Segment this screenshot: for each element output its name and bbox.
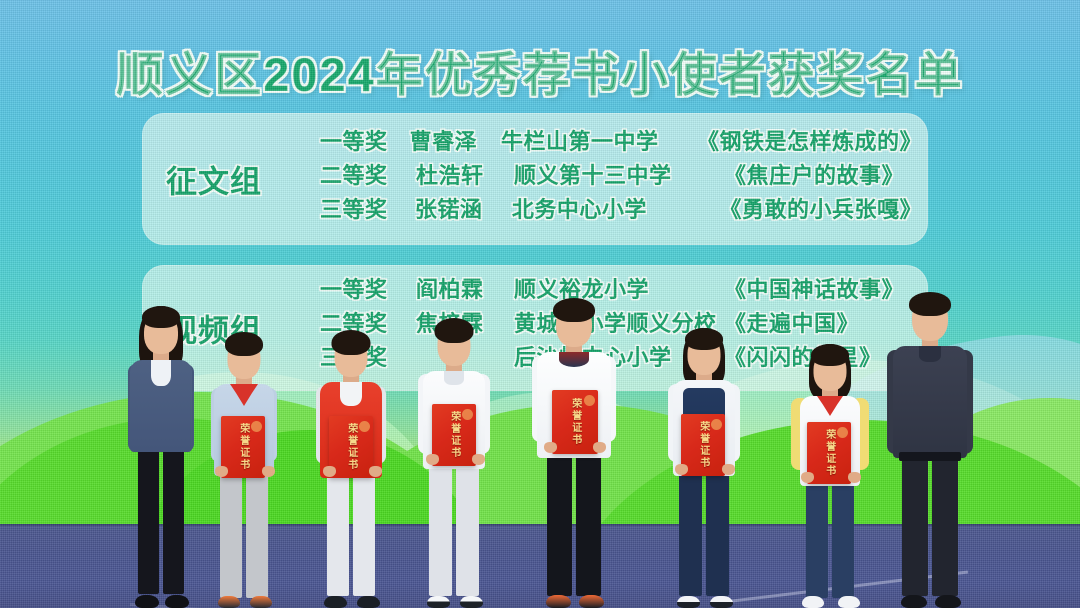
shoe <box>802 596 824 608</box>
certificate-seal <box>359 421 370 432</box>
award-prize: 二等奖 <box>320 158 416 190</box>
shoe <box>324 596 347 608</box>
hair-top <box>685 328 723 350</box>
hand <box>544 442 557 453</box>
shoe <box>935 595 961 608</box>
leg <box>220 470 242 598</box>
certificate-seal <box>462 409 473 420</box>
hair-top <box>811 344 849 366</box>
award-row: 二等奖 杜浩轩 顺义第十三中学 《焦庄户的故事》 <box>320 157 922 191</box>
hand <box>323 466 336 477</box>
leg <box>576 452 601 596</box>
hand <box>262 466 275 477</box>
hand <box>593 442 606 453</box>
belt <box>899 452 961 461</box>
hand <box>722 464 735 475</box>
hand <box>215 466 228 477</box>
screenshot-stage: 顺义区2024年优秀荐书小使者获奖名单 征文组 一等奖 曹睿泽 牛栏山第一中学 … <box>0 0 1080 608</box>
hand <box>848 472 861 483</box>
legs <box>805 480 855 598</box>
leg <box>353 472 375 596</box>
legs <box>428 463 480 596</box>
person-student-2: 荣誉证书 <box>310 316 392 608</box>
award-school: 顺义第十三中学 <box>514 158 724 190</box>
award-row-list-essay: 一等奖 曹睿泽 牛栏山第一中学 《钢铁是怎样炼成的》 二等奖 杜浩轩 顺义第十三… <box>320 123 922 237</box>
shirt-collar-striped <box>559 352 589 367</box>
hair <box>909 292 951 316</box>
page-title: 顺义区2024年优秀荐书小使者获奖名单 <box>0 36 1080 105</box>
award-book: 《勇敢的小兵张嘎》 <box>719 192 922 224</box>
certificate-label: 荣誉证书 <box>345 423 357 471</box>
certificate-seal <box>251 421 262 432</box>
award-name: 张锘涵 <box>415 192 512 224</box>
certificate-label: 荣誉证书 <box>823 429 835 477</box>
leg <box>163 444 184 594</box>
shoe <box>546 595 571 608</box>
certificate-seal <box>837 427 848 438</box>
leg <box>932 456 958 596</box>
group-label-essay: 征文组 <box>166 157 262 202</box>
award-school: 牛栏山第一中学 <box>501 124 697 156</box>
award-book: 《焦庄户的故事》 <box>724 158 904 190</box>
award-school: 北务中心小学 <box>512 192 720 224</box>
shoe <box>838 596 860 608</box>
shoe <box>135 595 159 608</box>
legs <box>326 472 376 596</box>
hand <box>426 454 439 465</box>
award-prize: 一等奖 <box>320 124 410 156</box>
shirt-collar <box>151 360 171 386</box>
shoe <box>579 595 604 608</box>
award-name: 曹睿泽 <box>410 124 501 156</box>
hair <box>435 318 474 343</box>
legs <box>219 470 269 598</box>
certificate-label: 荣誉证书 <box>448 411 460 459</box>
shoe <box>460 596 483 608</box>
person-student-3: 荣誉证书 <box>412 308 496 608</box>
award-prize: 一等奖 <box>320 272 416 304</box>
certificate-label: 荣誉证书 <box>237 423 249 471</box>
legs <box>901 456 959 596</box>
award-row: 一等奖 阎柏霖 顺义裕龙小学 《中国神话故事》 <box>320 271 922 305</box>
certificate-label: 荣誉证书 <box>697 421 709 469</box>
certificate-seal <box>711 419 722 430</box>
award-name: 杜浩轩 <box>416 158 514 190</box>
inner-shirt <box>340 382 362 406</box>
leg <box>902 456 928 596</box>
legs <box>678 470 730 596</box>
certificate-seal <box>584 395 595 406</box>
legs <box>136 444 186 594</box>
certificate-label: 荣誉证书 <box>569 398 581 446</box>
leg <box>138 444 159 594</box>
torso <box>893 346 967 458</box>
award-book: 《钢铁是怎样炼成的》 <box>697 124 922 156</box>
award-book: 《中国神话故事》 <box>724 272 904 304</box>
hand <box>675 464 688 475</box>
leg <box>429 463 452 596</box>
hand <box>472 454 485 465</box>
award-name: 阎柏霖 <box>416 272 514 304</box>
shoe <box>427 596 450 608</box>
hair <box>225 332 263 356</box>
person-student-4: 荣誉证书 <box>528 298 620 608</box>
hair-top <box>142 306 180 328</box>
shoe <box>165 595 189 608</box>
shoe <box>710 596 733 608</box>
person-presenter-female <box>118 304 204 608</box>
hand <box>369 466 382 477</box>
leg <box>246 470 268 598</box>
award-row: 三等奖 张锘涵 北务中心小学 《勇敢的小兵张嘎》 <box>320 191 922 225</box>
leg <box>679 470 702 596</box>
person-presenter-male <box>884 294 976 608</box>
shoe <box>901 595 927 608</box>
shoe <box>218 596 240 608</box>
award-row: 一等奖 曹睿泽 牛栏山第一中学 《钢铁是怎样炼成的》 <box>320 123 922 157</box>
shirt-collar <box>444 371 464 385</box>
leg <box>832 480 854 598</box>
shirt-collar <box>919 346 941 362</box>
shoe <box>677 596 700 608</box>
honor-certificate: 荣誉证书 <box>552 390 598 454</box>
person-student-1: 荣誉证书 <box>203 320 285 608</box>
award-panel-essay: 征文组 一等奖 曹睿泽 牛栏山第一中学 《钢铁是怎样炼成的》 二等奖 杜浩轩 顺… <box>142 113 928 245</box>
leg <box>706 470 729 596</box>
leg <box>547 452 572 596</box>
person-student-5: 荣誉证书 <box>662 316 746 608</box>
shoe <box>250 596 272 608</box>
award-prize: 三等奖 <box>320 192 415 224</box>
hair <box>332 330 371 355</box>
person-student-6: 荣誉证书 <box>788 322 872 608</box>
legs <box>546 452 602 596</box>
hair <box>553 298 595 322</box>
leg <box>806 480 828 598</box>
shoe <box>357 596 380 608</box>
hand <box>801 472 814 483</box>
leg <box>327 472 349 596</box>
leg <box>456 463 479 596</box>
